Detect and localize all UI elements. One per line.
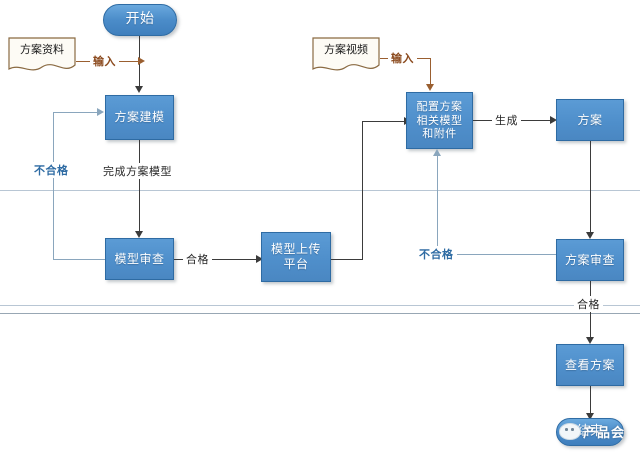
document-plan-video[interactable]: 方案视频	[312, 37, 380, 75]
edge-label-generate: 生成	[492, 112, 521, 128]
arrowhead-input-left	[138, 57, 145, 65]
node-upload-platform[interactable]: 模型上传 平台	[261, 232, 331, 282]
node-plan-review[interactable]: 方案审查	[556, 239, 624, 281]
watermark-label: 产品会	[583, 422, 625, 441]
arrowhead-plan-review-to-view	[586, 337, 594, 344]
edge-upload-to-configure-v	[362, 121, 363, 260]
edge-reject-left-segment-h-top	[53, 112, 99, 113]
document-plan-material-label: 方案资料	[8, 37, 76, 63]
node-configure-plan-line3: 和附件	[422, 127, 457, 140]
wechat-icon	[559, 423, 581, 440]
edge-reject-left-segment-v	[53, 112, 54, 260]
arrowhead-start-to-model-build	[135, 86, 143, 93]
flowchart-canvas: 开始 方案资料 输入 方案建模 完成方案模型 模型审查 不合格 合格 模型上传 …	[0, 0, 640, 458]
lane-divider-3	[0, 313, 640, 314]
document-plan-video-label: 方案视频	[312, 37, 380, 63]
node-start[interactable]: 开始	[103, 4, 177, 36]
arrowhead-reject-right	[433, 149, 441, 156]
edge-model-build-to-model-review	[139, 140, 140, 233]
document-plan-material[interactable]: 方案资料	[8, 37, 76, 75]
edge-upload-to-configure-h-top	[362, 121, 406, 122]
node-view-plan[interactable]: 查看方案	[556, 344, 624, 386]
node-model-build[interactable]: 方案建模	[105, 95, 174, 140]
arrowhead-plan-to-plan-review	[586, 232, 594, 239]
arrowhead-model-build-to-model-review	[135, 231, 143, 238]
node-configure-plan[interactable]: 配置方案 相关模型 和附件	[406, 92, 473, 149]
wechat-watermark: 产品会	[559, 422, 625, 441]
edge-label-model-done: 完成方案模型	[100, 163, 175, 179]
edge-label-input-left: 输入	[90, 53, 119, 69]
edge-label-pass-plan: 合格	[574, 296, 603, 312]
edge-label-input-right: 输入	[388, 50, 417, 66]
node-model-review[interactable]: 模型审查	[105, 238, 174, 280]
node-configure-plan-line1: 配置方案	[417, 100, 463, 113]
arrowhead-reject-left	[97, 108, 104, 116]
lane-divider-1	[0, 190, 640, 191]
edge-input-right-v	[430, 58, 431, 86]
edge-reject-left-segment-h-bottom	[53, 259, 105, 260]
arrowhead-input-right	[426, 84, 434, 91]
edge-label-reject-right: 不合格	[416, 246, 457, 262]
edge-plan-to-plan-review	[590, 141, 591, 234]
node-plan[interactable]: 方案	[556, 99, 624, 141]
node-upload-platform-line1: 模型上传	[271, 242, 321, 257]
lane-divider-2	[0, 305, 640, 306]
edge-label-reject-left: 不合格	[31, 162, 72, 178]
node-upload-platform-line2: 平台	[283, 257, 308, 272]
node-configure-plan-line2: 相关模型	[417, 114, 463, 127]
edge-reject-right-v	[437, 156, 438, 255]
edge-view-to-end	[590, 386, 591, 415]
edge-label-pass-model: 合格	[183, 251, 212, 267]
edge-upload-to-configure-h-bottom	[331, 259, 363, 260]
